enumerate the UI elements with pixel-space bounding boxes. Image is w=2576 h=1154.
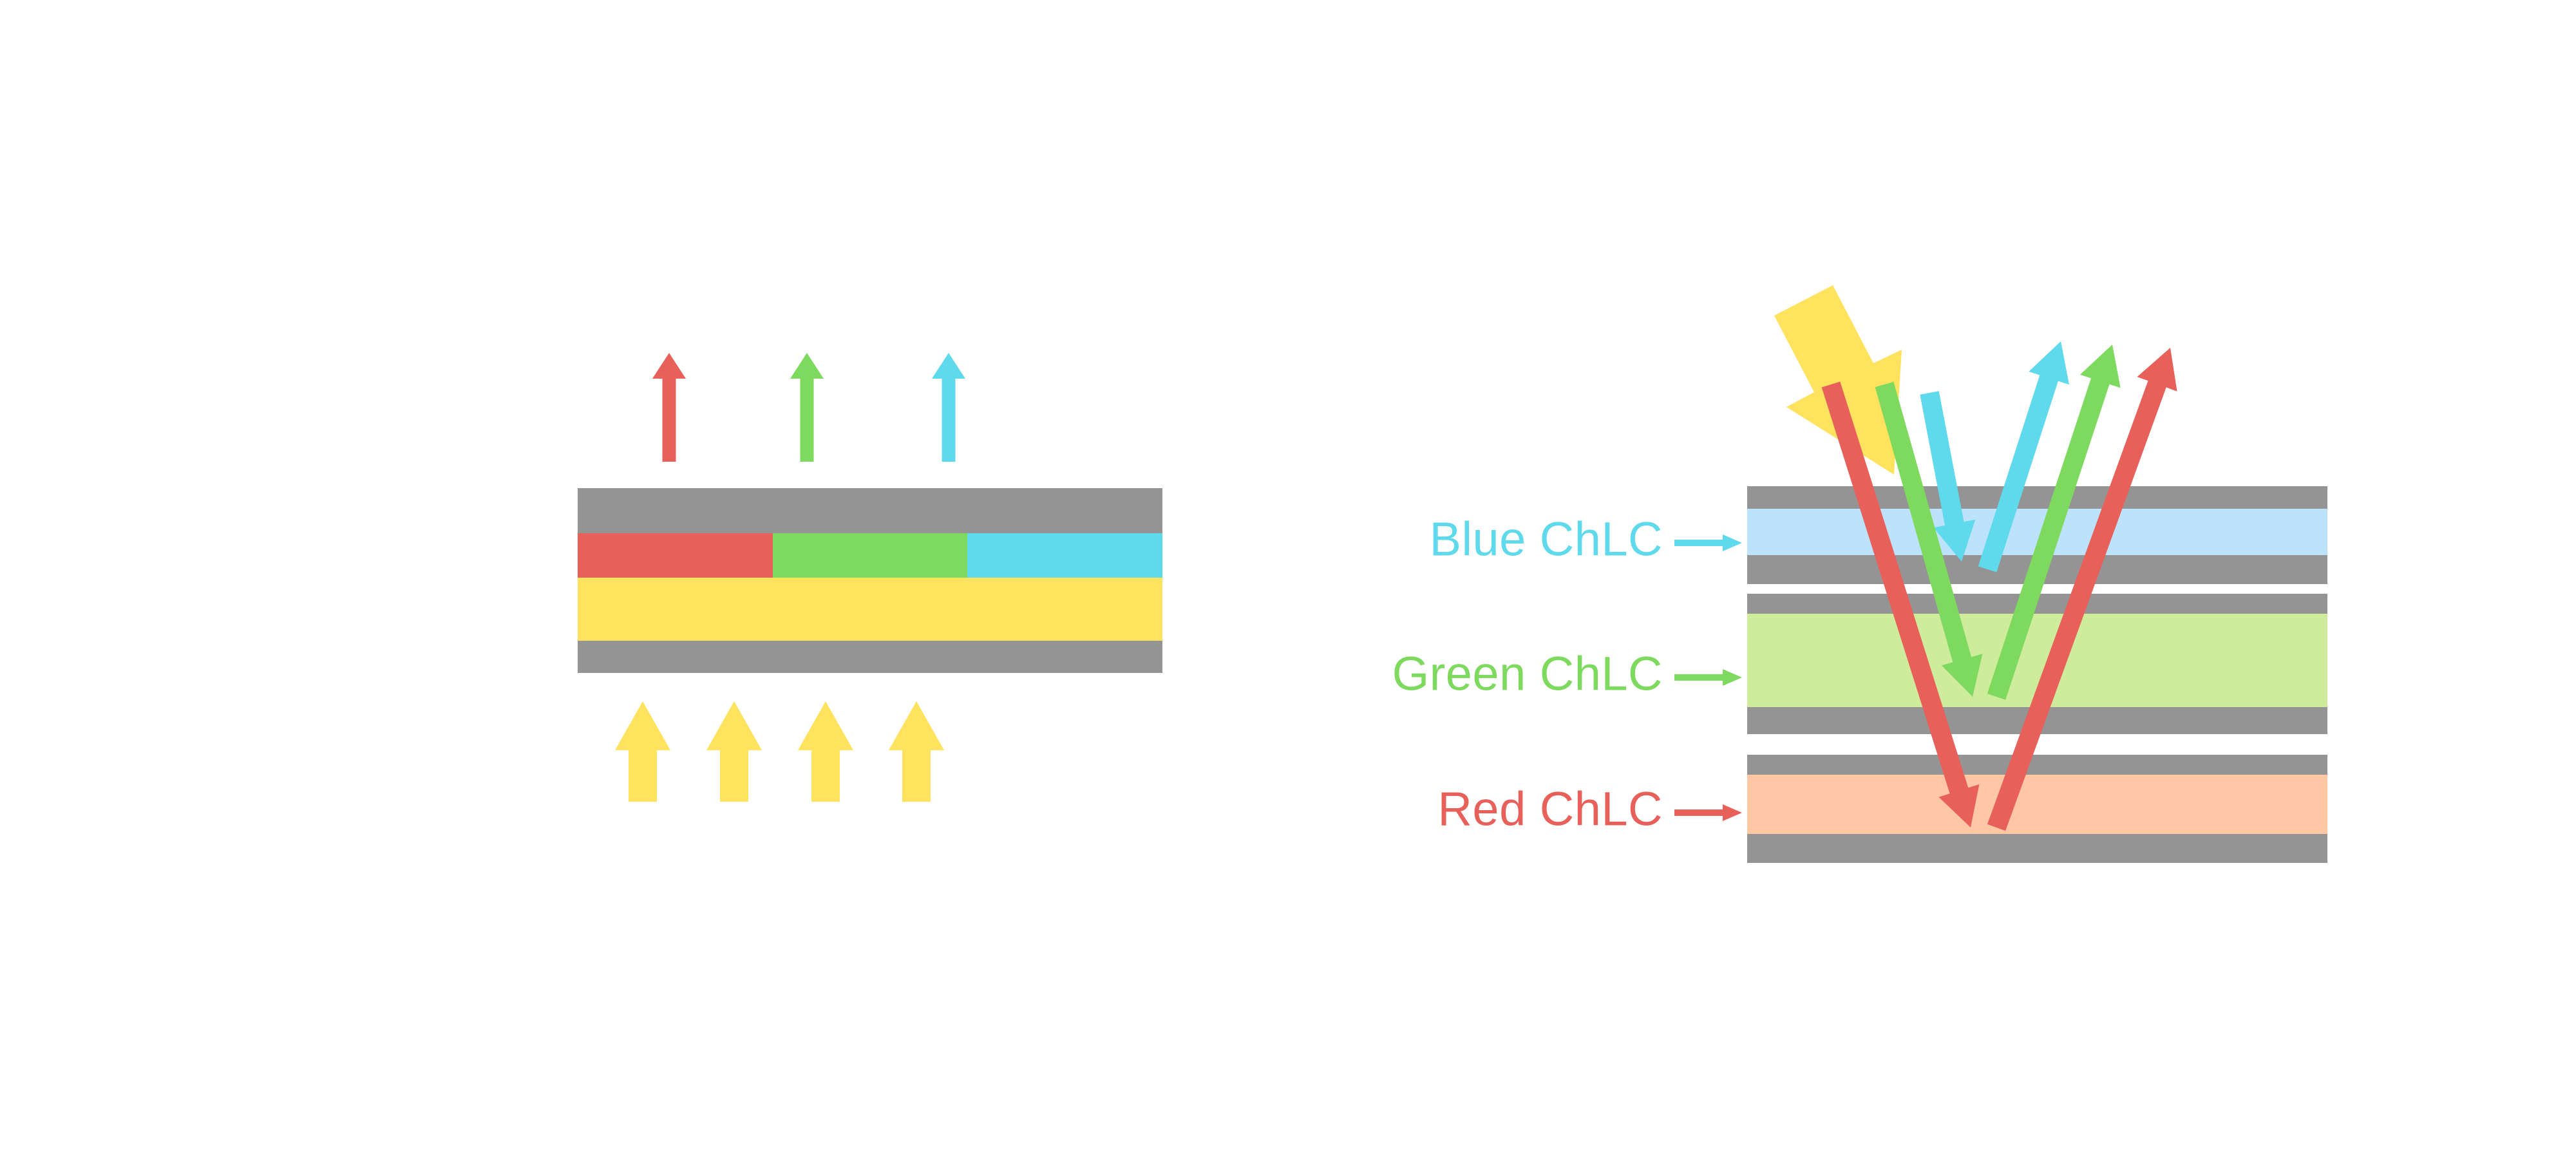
backlight-ray-1: [615, 701, 670, 802]
blue-chlc-label-arrow-icon: [1674, 534, 1742, 551]
right-layer-red-cell-top-substrate: [1747, 755, 2327, 775]
red-chlc-label: Red ChLC: [1437, 782, 1742, 836]
white-light-incident-ray: [1774, 285, 1902, 475]
emissive-stack-panel: [578, 353, 1162, 802]
green-chlc-label-arrow-icon: [1674, 669, 1742, 686]
left-layer-bottom-electrode: [578, 641, 1162, 673]
blue-subpixel: [967, 533, 1162, 578]
blue-chlc-label-text: Blue ChLC: [1430, 513, 1663, 566]
backlight-ray-2: [706, 701, 762, 802]
green-output-ray: [790, 353, 824, 462]
right-layer-blue-cell-top-substrate: [1747, 486, 2327, 509]
left-stack: [578, 488, 1162, 673]
red-output-ray: [652, 353, 686, 462]
diagram-canvas: Blue ChLC Green ChLC Red ChLC: [0, 0, 2576, 1154]
backlight-ray-group: [615, 701, 944, 802]
left-layer-top-electrode: [578, 488, 1162, 533]
red-subpixel: [578, 533, 773, 578]
backlight-ray-4: [889, 701, 944, 802]
output-ray-group: [652, 353, 965, 462]
green-chlc-label: Green ChLC: [1392, 647, 1742, 701]
chlc-display-diagram: Blue ChLC Green ChLC Red ChLC: [0, 0, 2576, 1154]
blue-chlc-label: Blue ChLC: [1430, 513, 1742, 566]
right-layer-red-cell-bottom-substrate: [1747, 834, 2327, 863]
red-chlc-label-text: Red ChLC: [1437, 782, 1663, 836]
left-layer-backlight-layer: [578, 578, 1162, 641]
backlight-ray-3: [798, 701, 853, 802]
blue-output-ray: [932, 353, 965, 462]
chlc-reflective-stack-panel: Blue ChLC Green ChLC Red ChLC: [1392, 285, 2327, 863]
green-subpixel: [773, 533, 967, 578]
green-chlc-label-text: Green ChLC: [1392, 647, 1663, 701]
red-chlc-label-arrow-icon: [1674, 804, 1742, 821]
right-layer-red-chlc-layer: [1747, 775, 2327, 834]
color-filter-band-group: [578, 533, 1162, 578]
incident-arrow-shape: [1774, 285, 1902, 475]
layer-label-group: Blue ChLC Green ChLC Red ChLC: [1392, 513, 1742, 836]
